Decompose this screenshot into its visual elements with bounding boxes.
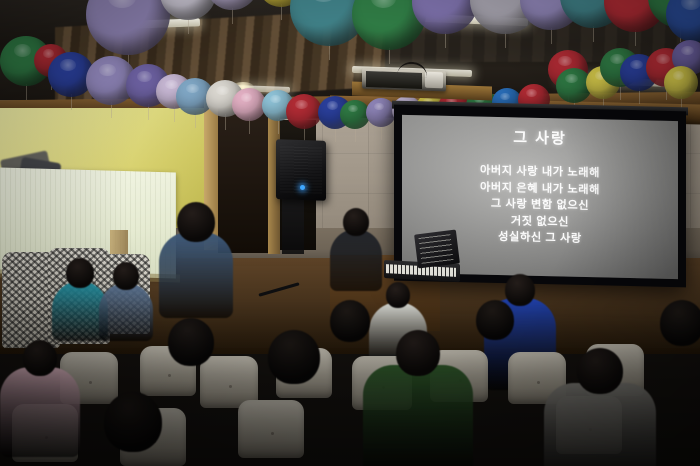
person-youth-grey (544, 383, 656, 466)
person-girl-denim (99, 283, 153, 341)
person-youth-green (363, 365, 473, 466)
chair-rivet (537, 381, 540, 384)
person-head (268, 330, 320, 384)
chair-rivet (168, 374, 171, 377)
chair-rivet (271, 432, 274, 435)
person-keyboardist (330, 229, 382, 291)
person-head (343, 208, 369, 236)
person-head (386, 282, 410, 308)
person-head (330, 300, 370, 342)
person-head (23, 340, 57, 376)
chair-backrest (238, 400, 304, 458)
sheet-music (419, 234, 454, 264)
audience-and-staff (0, 0, 700, 466)
person-head (660, 300, 700, 346)
person-head (177, 202, 215, 242)
person-leader-denim (159, 232, 233, 318)
person-head (476, 300, 514, 340)
person-child-pink (0, 367, 80, 457)
person-head (396, 330, 440, 376)
person-head (104, 392, 162, 452)
person-head (168, 318, 214, 366)
chair-rivet (229, 385, 232, 388)
person-head (66, 258, 94, 288)
person-head (577, 348, 623, 394)
photo-scene: 그 사랑 아버지 사랑 내가 노래해아버지 은혜 내가 노래해그 사랑 변함 없… (0, 0, 700, 466)
person-head (505, 274, 535, 306)
chair-rivet (89, 381, 92, 384)
folding-chair (238, 400, 304, 458)
person-head (113, 262, 139, 290)
